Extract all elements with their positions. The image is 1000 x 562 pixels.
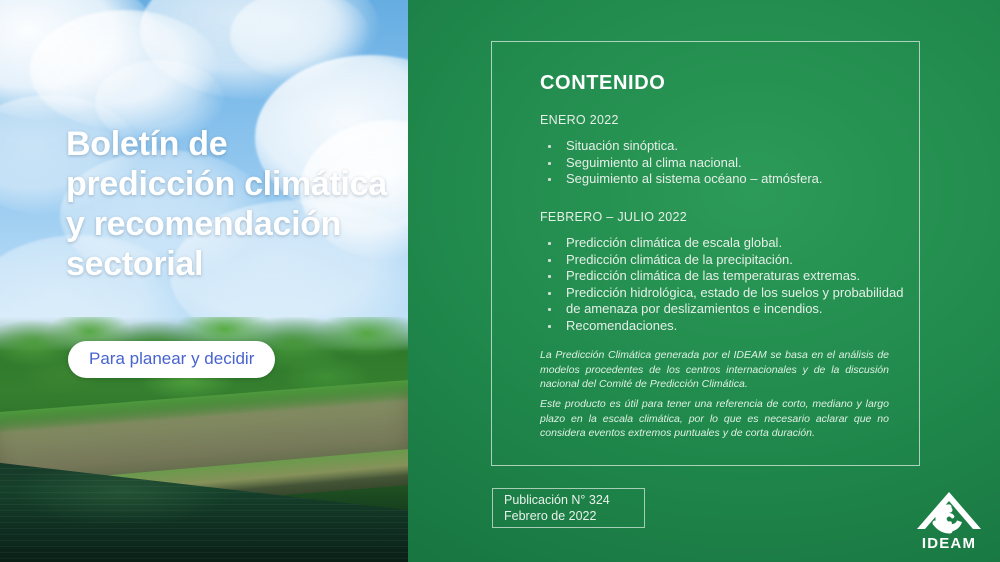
ideam-logo: IDEAM bbox=[905, 483, 993, 553]
section-list-enero: Situación sinóptica. Seguimiento al clim… bbox=[540, 138, 823, 188]
publication-box: Publicación N° 324 Febrero de 2022 bbox=[492, 488, 645, 528]
section-label-febrero-julio: FEBRERO – JULIO 2022 bbox=[540, 210, 687, 224]
section-list-febrero-julio: Predicción climática de escala global. P… bbox=[540, 235, 904, 334]
list-item: Predicción climática de escala global. bbox=[540, 235, 904, 252]
list-item: Situación sinóptica. bbox=[540, 138, 823, 155]
tagline-pill[interactable]: Para planear y decidir bbox=[68, 341, 275, 378]
content-panel: CONTENIDO ENERO 2022 Situación sinóptica… bbox=[408, 0, 1000, 562]
list-item: Seguimiento al clima nacional. bbox=[540, 155, 823, 172]
ideam-wordmark: IDEAM bbox=[905, 535, 993, 552]
disclaimer-note-1: La Predicción Climática generada por el … bbox=[540, 348, 889, 392]
contenido-heading: CONTENIDO bbox=[540, 72, 665, 95]
list-item: Recomendaciones. bbox=[540, 318, 904, 335]
publication-date: Febrero de 2022 bbox=[504, 508, 644, 524]
page-title: Boletín de predicción climática y recome… bbox=[66, 124, 396, 284]
section-label-enero: ENERO 2022 bbox=[540, 113, 619, 127]
disclaimer-note-2: Este producto es útil para tener una ref… bbox=[540, 397, 889, 441]
list-item: de amenaza por deslizamientos e incendio… bbox=[540, 301, 904, 318]
content-box: CONTENIDO ENERO 2022 Situación sinóptica… bbox=[491, 41, 920, 466]
list-item: Predicción climática de las temperaturas… bbox=[540, 268, 904, 285]
slide-root: Boletín de predicción climática y recome… bbox=[0, 0, 1000, 562]
publication-number: Publicación N° 324 bbox=[504, 492, 644, 508]
list-item: Seguimiento al sistema océano – atmósfer… bbox=[540, 171, 823, 188]
list-item: Predicción climática de la precipitación… bbox=[540, 252, 904, 269]
list-item: Predicción hidrológica, estado de los su… bbox=[540, 285, 904, 302]
title-block: Boletín de predicción climática y recome… bbox=[66, 124, 396, 284]
house-spiral-icon bbox=[905, 483, 993, 537]
